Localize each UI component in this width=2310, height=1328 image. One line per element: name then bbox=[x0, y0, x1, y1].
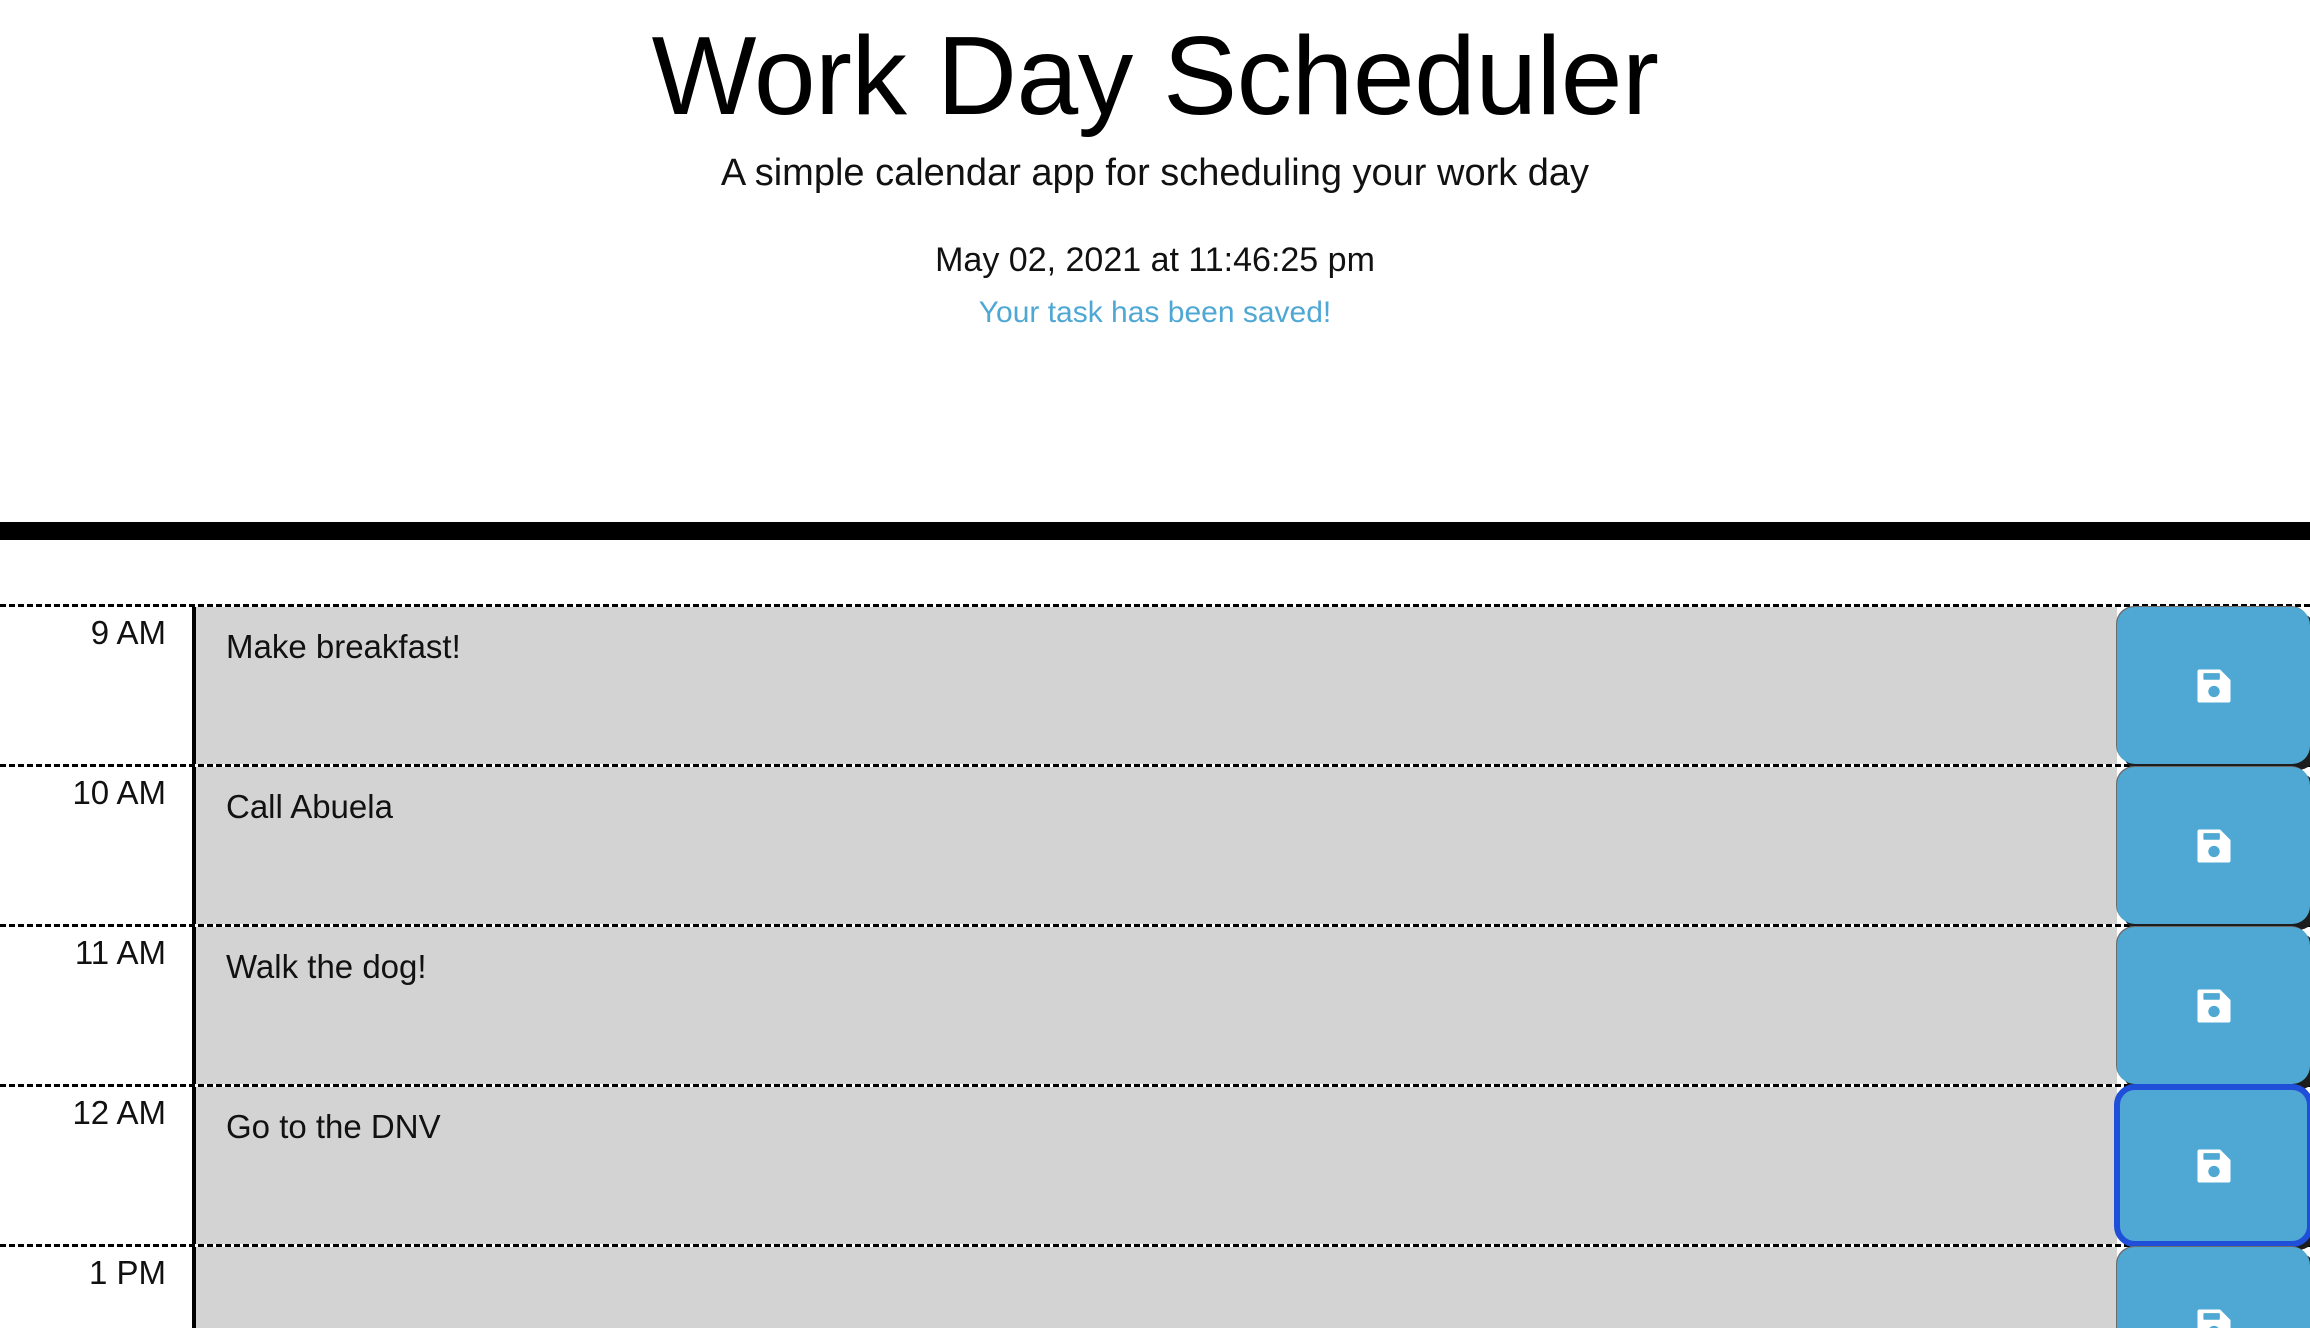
save-task-button[interactable] bbox=[2117, 1247, 2310, 1328]
save-icon bbox=[2192, 984, 2236, 1028]
time-block: 12 AM bbox=[0, 1084, 2310, 1244]
task-input[interactable] bbox=[196, 767, 2117, 924]
task-input[interactable] bbox=[196, 607, 2117, 764]
header-divider bbox=[0, 522, 2310, 540]
hour-label: 12 AM bbox=[0, 1087, 196, 1244]
schedule-container: 9 AM10 AM11 AM12 AM1 PM bbox=[0, 604, 2310, 1328]
save-icon bbox=[2192, 1144, 2236, 1188]
save-icon bbox=[2192, 824, 2236, 868]
time-block: 10 AM bbox=[0, 764, 2310, 924]
time-block: 1 PM bbox=[0, 1244, 2310, 1328]
task-input[interactable] bbox=[196, 927, 2117, 1084]
hour-label: 10 AM bbox=[0, 767, 196, 924]
task-input[interactable] bbox=[196, 1087, 2117, 1244]
save-task-button[interactable] bbox=[2117, 1087, 2310, 1244]
task-input[interactable] bbox=[196, 1247, 2117, 1328]
save-task-button[interactable] bbox=[2117, 767, 2310, 924]
page-header: Work Day Scheduler A simple calendar app… bbox=[0, 0, 2310, 331]
hour-label: 11 AM bbox=[0, 927, 196, 1084]
hour-label: 1 PM bbox=[0, 1247, 196, 1328]
save-icon bbox=[2192, 1304, 2236, 1328]
save-confirmation-alert: Your task has been saved! bbox=[0, 295, 2310, 331]
save-task-button[interactable] bbox=[2117, 607, 2310, 764]
current-day-timestamp: May 02, 2021 at 11:46:25 pm bbox=[0, 240, 2310, 281]
time-block: 11 AM bbox=[0, 924, 2310, 1084]
page-title: Work Day Scheduler bbox=[0, 18, 2310, 135]
time-block: 9 AM bbox=[0, 604, 2310, 764]
hour-label: 9 AM bbox=[0, 607, 196, 764]
save-icon bbox=[2192, 664, 2236, 708]
page-subtitle: A simple calendar app for scheduling you… bbox=[0, 151, 2310, 197]
save-task-button[interactable] bbox=[2117, 927, 2310, 1084]
work-day-scheduler-page: Work Day Scheduler A simple calendar app… bbox=[0, 0, 2310, 1328]
